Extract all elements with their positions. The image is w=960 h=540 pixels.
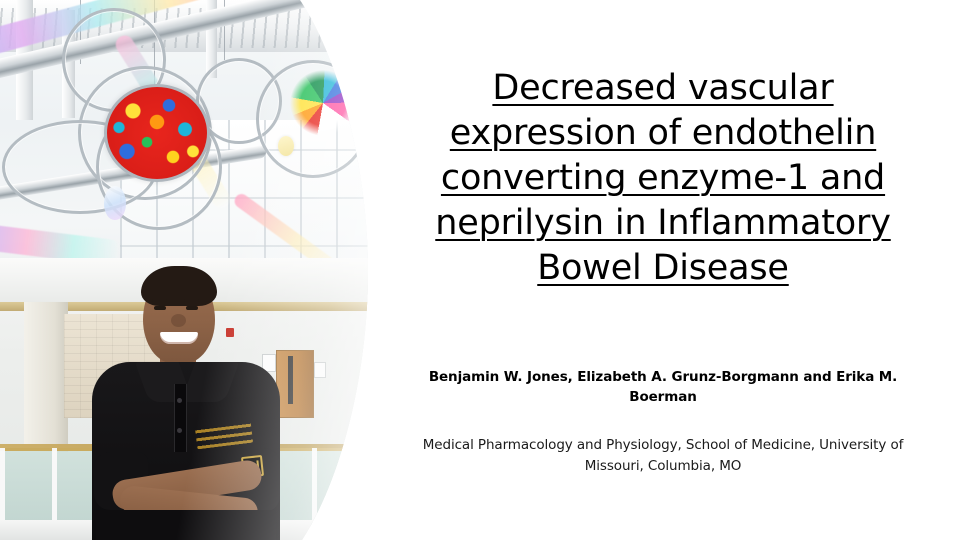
smiling-mouth: [160, 332, 198, 344]
presentation-slide: Decreased vascular expression of endothe…: [0, 0, 960, 540]
authors-line: Benjamin W. Jones, Elizabeth A. Grunz-Bo…: [408, 367, 918, 407]
photo-image: [0, 0, 372, 540]
affiliation-placeholder: Medical Pharmacology and Physiology, Sch…: [408, 435, 918, 477]
shirt-button: [177, 398, 182, 403]
wall-sign: [314, 362, 326, 378]
eyebrow: [184, 299, 199, 302]
eye: [154, 306, 166, 310]
eye: [186, 306, 198, 310]
shirt-hem: [96, 510, 276, 540]
door-handle: [288, 356, 293, 404]
authors-placeholder: Benjamin W. Jones, Elizabeth A. Grunz-Bo…: [408, 367, 918, 407]
interior-pillar: [24, 302, 68, 452]
sculpture-pendant: [104, 186, 126, 220]
nose: [171, 314, 186, 327]
sculpture-pendant: [278, 136, 294, 156]
page-title: Decreased vascular expression of endothe…: [408, 66, 918, 291]
person-portrait: [86, 266, 286, 540]
title-slide-photo: [0, 0, 372, 540]
eyebrow: [152, 299, 167, 302]
title-placeholder: Decreased vascular expression of endothe…: [408, 66, 918, 291]
sculpture-colored-disc: [104, 84, 210, 182]
sculpture-feather-fan: [290, 70, 356, 136]
affiliation-line: Medical Pharmacology and Physiology, Sch…: [408, 435, 918, 477]
shirt-button: [177, 428, 182, 433]
shirt-placket: [174, 384, 187, 452]
